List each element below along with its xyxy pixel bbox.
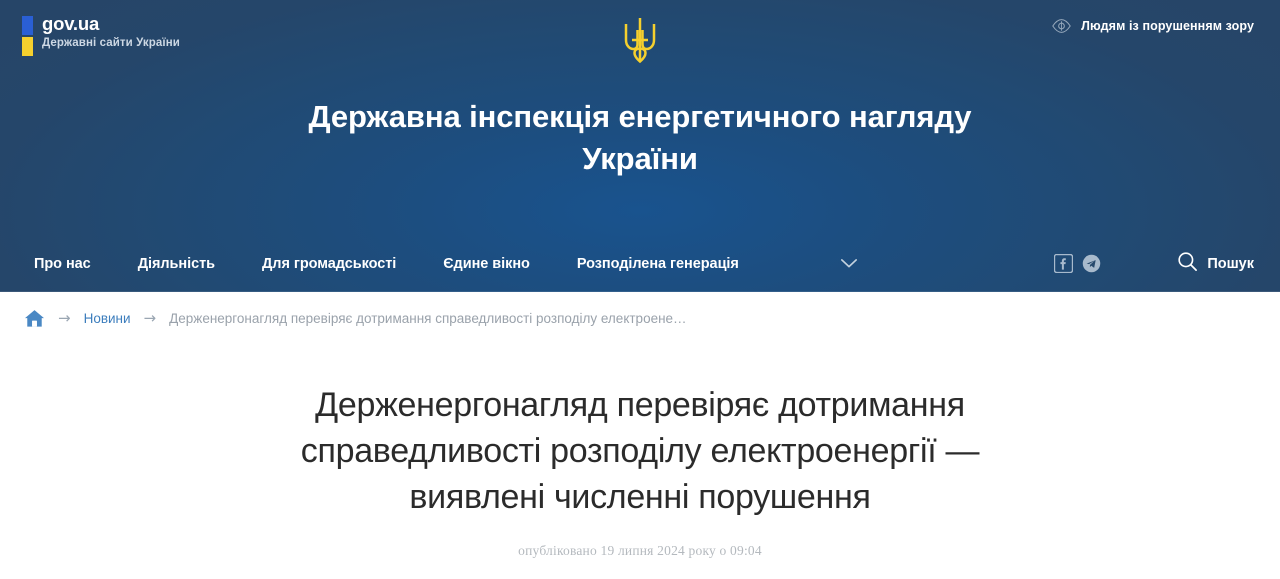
accessibility-label: Людям із порушенням зору [1081, 19, 1254, 33]
breadcrumb-arrow-2: → [144, 311, 157, 326]
search-icon [1177, 251, 1198, 277]
ukraine-trident-emblem-icon [619, 14, 661, 66]
telegram-icon[interactable] [1082, 254, 1101, 273]
govua-text: gov.ua Державні сайти України [42, 13, 180, 50]
flag-yellow-bar [22, 37, 33, 56]
nav-right-group: Пошук [1054, 251, 1258, 277]
search-label: Пошук [1207, 256, 1254, 272]
nav-item-activity[interactable]: Діяльність [138, 250, 215, 278]
breadcrumb: → Новини → Держенергонагляд перевіряє до… [0, 292, 1280, 344]
home-icon[interactable] [24, 309, 45, 328]
nav-links: Про нас Діяльність Для громадськості Єди… [34, 249, 864, 279]
govua-title: gov.ua [42, 13, 180, 34]
site-header: gov.ua Державні сайти України [0, 0, 1280, 292]
nav-item-distributed-generation[interactable]: Розподілена генерація [577, 250, 739, 278]
ukraine-flag-icon [22, 16, 33, 56]
accessibility-link[interactable]: Людям із порушенням зору [1052, 19, 1254, 33]
flag-blue-bar [22, 16, 33, 35]
eye-accessibility-icon [1052, 19, 1071, 33]
govua-subtitle: Державні сайти України [42, 37, 180, 50]
organisation-name: Державна інспекція енергетичного нагляду… [0, 96, 1280, 180]
nav-item-public[interactable]: Для громадськості [262, 250, 396, 278]
article-header: Держенергонагляд перевіряє дотримання сп… [0, 344, 1280, 559]
article-published-date: опубліковано 19 липня 2024 року о 09:04 [0, 543, 1280, 559]
nav-item-about[interactable]: Про нас [34, 250, 91, 278]
main-navigation: Про нас Діяльність Для громадськості Єди… [0, 236, 1280, 292]
breadcrumb-arrow-1: → [58, 311, 71, 326]
search-button[interactable]: Пошук [1177, 251, 1258, 277]
facebook-icon[interactable] [1054, 254, 1073, 273]
article-title: Держенергонагляд перевіряє дотримання сп… [240, 382, 1040, 521]
nav-item-single-window[interactable]: Єдине вікно [443, 250, 530, 278]
govua-logo[interactable]: gov.ua Державні сайти України [22, 13, 180, 56]
breadcrumb-link-news[interactable]: Новини [84, 311, 131, 326]
social-links [1054, 254, 1101, 273]
chevron-down-icon[interactable] [834, 249, 864, 279]
breadcrumb-current-page: Держенергонагляд перевіряє дотримання сп… [169, 311, 686, 326]
header-utility-row: gov.ua Державні сайти України [0, 0, 1280, 78]
